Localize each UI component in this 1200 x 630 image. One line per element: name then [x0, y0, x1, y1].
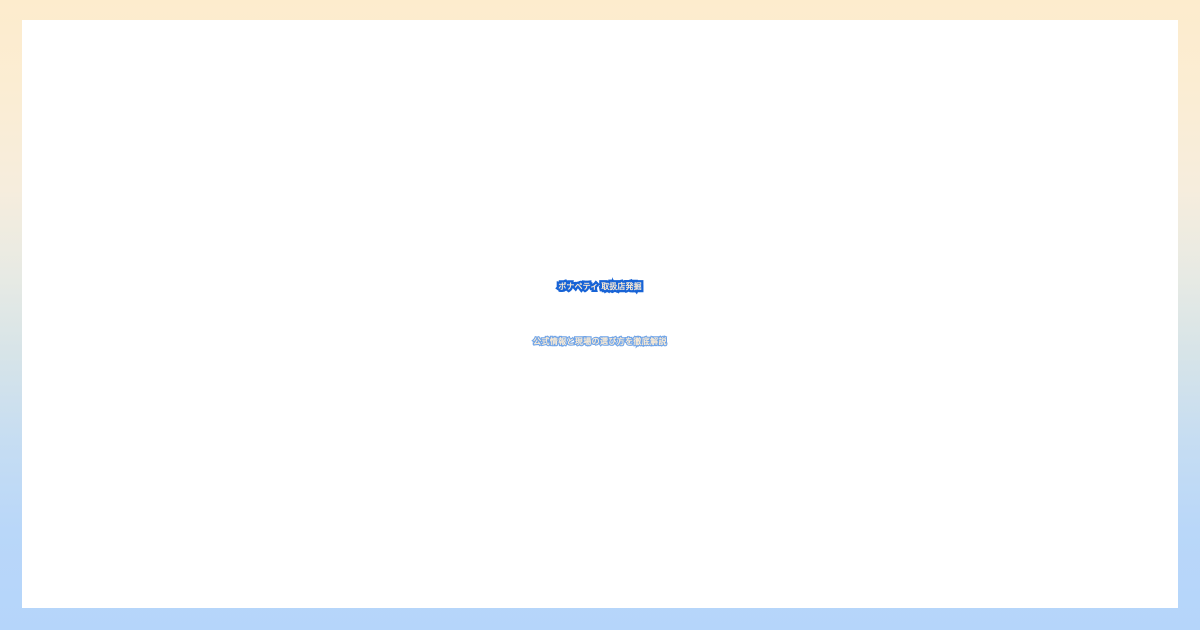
- title-block: ボナペティ 取扱店発掘 公式情報と現場の選び方を徹底解説: [50, 283, 1150, 347]
- page-subtitle: 公式情報と現場の選び方を徹底解説: [50, 337, 1150, 347]
- og-image-canvas: ボナペティ 取扱店発掘 公式情報と現場の選び方を徹底解説: [0, 0, 1200, 630]
- page-title: ボナペティ 取扱店発掘: [50, 283, 1150, 291]
